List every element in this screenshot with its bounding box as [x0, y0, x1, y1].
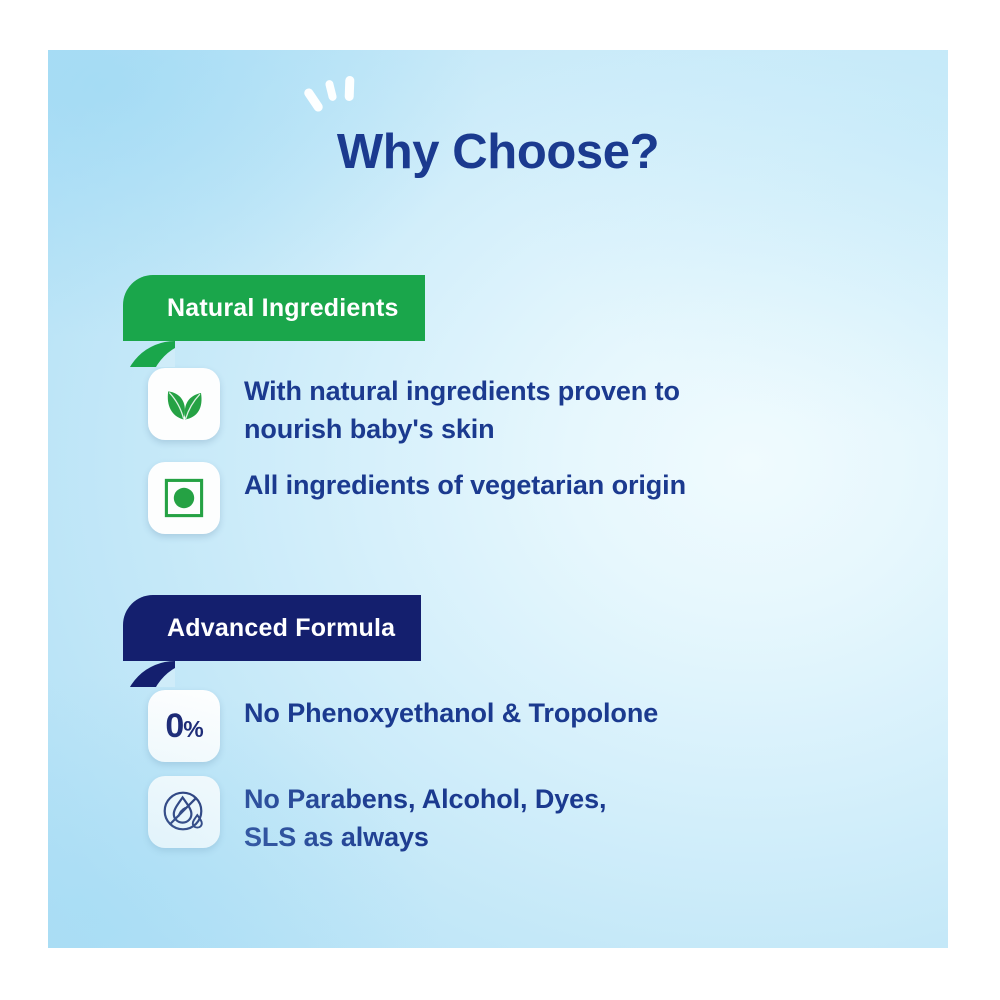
content-panel: Why Choose? Natural Ingredients	[48, 50, 948, 948]
vegetarian-mark-icon	[163, 477, 205, 519]
section-advanced-formula: Advanced Formula	[48, 595, 948, 661]
zero-percent-icon: 0%	[165, 709, 202, 743]
list-item: All ingredients of vegetarian origin	[48, 462, 948, 534]
list-item-label: No Parabens, Alcohol, Dyes, SLS as alway…	[244, 776, 606, 856]
section-banner-natural-ingredients: Natural Ingredients	[123, 275, 425, 341]
list-item-label: No Phenoxyethanol & Tropolone	[244, 690, 658, 732]
banner-tail	[123, 661, 175, 687]
leaves-icon	[162, 382, 206, 426]
list-item: No Parabens, Alcohol, Dyes, SLS as alway…	[48, 776, 948, 856]
feature-list-natural-ingredients: With natural ingredients proven to nouri…	[48, 368, 948, 548]
no-droplet-icon	[160, 788, 208, 836]
list-item-label: All ingredients of vegetarian origin	[244, 462, 686, 504]
promo-graphic: Why Choose? Natural Ingredients	[0, 0, 1000, 1000]
zero-percent-symbol: %	[183, 716, 202, 742]
section-natural-ingredients: Natural Ingredients	[48, 275, 948, 341]
section-banner-label: Advanced Formula	[167, 614, 395, 642]
sparkle-icon	[302, 87, 324, 114]
icon-card	[148, 368, 220, 440]
section-banner-advanced-formula: Advanced Formula	[123, 595, 421, 661]
icon-card: 0%	[148, 690, 220, 762]
icon-card	[148, 776, 220, 848]
sparkle-icon	[344, 76, 354, 101]
list-item: With natural ingredients proven to nouri…	[48, 368, 948, 448]
banner-tail	[123, 341, 175, 367]
section-banner-label: Natural Ingredients	[167, 294, 399, 322]
page-title: Why Choose?	[337, 128, 659, 177]
page-title-area: Why Choose?	[48, 128, 948, 177]
page-title-text: Why Choose?	[337, 125, 659, 179]
icon-card	[148, 462, 220, 534]
zero-percent-number: 0	[165, 707, 183, 745]
list-item-label: With natural ingredients proven to nouri…	[244, 368, 680, 448]
list-item: 0% No Phenoxyethanol & Tropolone	[48, 690, 948, 762]
sparkle-icon	[324, 79, 337, 101]
feature-list-advanced-formula: 0% No Phenoxyethanol & Tropolone	[48, 690, 948, 870]
